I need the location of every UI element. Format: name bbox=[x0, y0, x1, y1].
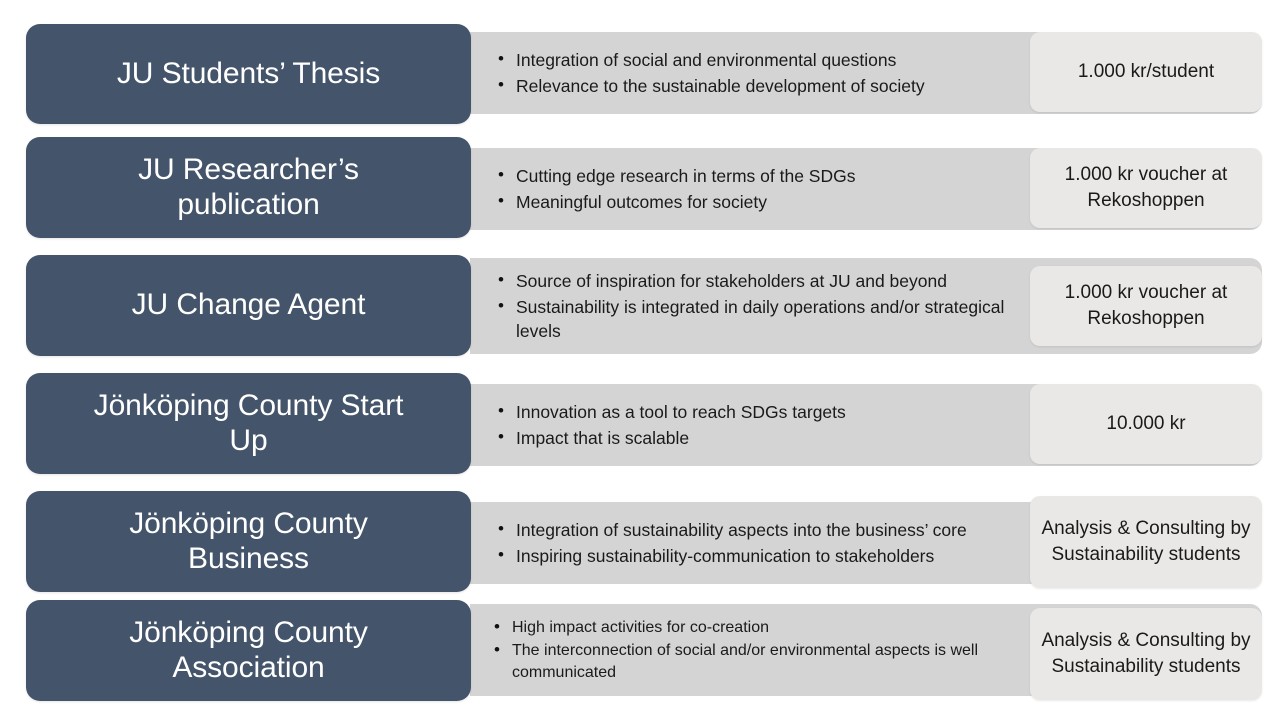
award-row: Source of inspiration for stakeholders a… bbox=[0, 246, 1280, 364]
prize-box[interactable]: 1.000 kr voucher at Rekoshoppen bbox=[1030, 266, 1262, 346]
criteria-item: High impact activities for co-creation bbox=[494, 617, 1045, 638]
category-label: JU Change Agent bbox=[118, 288, 380, 323]
prize-box[interactable]: 10.000 kr bbox=[1030, 384, 1262, 464]
category-label-box[interactable]: JU Researcher’s publication bbox=[26, 137, 471, 238]
criteria-list: Cutting edge research in terms of the SD… bbox=[470, 162, 1030, 216]
category-label-box[interactable]: Jönköping County Start Up bbox=[26, 373, 471, 474]
criteria-item: Innovation as a tool to reach SDGs targe… bbox=[498, 400, 1030, 424]
prize-box[interactable]: 1.000 kr voucher at Rekoshoppen bbox=[1030, 148, 1262, 228]
criteria-list: High impact activities for co-creation T… bbox=[470, 615, 1045, 685]
criteria-item: Cutting edge research in terms of the SD… bbox=[498, 164, 1030, 188]
prize-label: 1.000 kr voucher at Rekoshoppen bbox=[1057, 280, 1236, 331]
prize-box[interactable]: 1.000 kr/student bbox=[1030, 32, 1262, 112]
criteria-list: Source of inspiration for stakeholders a… bbox=[470, 267, 1030, 345]
prize-label: Analysis & Consulting by Sustainability … bbox=[1033, 628, 1258, 679]
criteria-item: Impact that is scalable bbox=[498, 426, 1030, 450]
category-label: JU Researcher’s publication bbox=[124, 153, 373, 223]
award-row: Integration of sustainability aspects in… bbox=[0, 482, 1280, 600]
category-label: Jönköping County Association bbox=[115, 616, 382, 686]
category-label: JU Students’ Thesis bbox=[103, 57, 394, 92]
criteria-item: Sustainability is integrated in daily op… bbox=[498, 295, 1030, 343]
criteria-item: Source of inspiration for stakeholders a… bbox=[498, 269, 1030, 293]
criteria-item: Meaningful outcomes for society bbox=[498, 190, 1030, 214]
criteria-item: Inspiring sustainability-communication t… bbox=[498, 544, 1030, 568]
award-row: Integration of social and environmental … bbox=[0, 0, 1280, 128]
criteria-item: Relevance to the sustainable development… bbox=[498, 74, 1030, 98]
criteria-list: Innovation as a tool to reach SDGs targe… bbox=[470, 398, 1030, 452]
prize-label: Analysis & Consulting by Sustainability … bbox=[1033, 516, 1258, 567]
award-categories-diagram: Integration of social and environmental … bbox=[0, 0, 1280, 720]
criteria-item: Integration of sustainability aspects in… bbox=[498, 518, 1030, 542]
prize-label: 1.000 kr voucher at Rekoshoppen bbox=[1057, 162, 1236, 213]
prize-label: 1.000 kr/student bbox=[1070, 59, 1222, 85]
criteria-list: Integration of sustainability aspects in… bbox=[470, 516, 1030, 570]
award-row: Innovation as a tool to reach SDGs targe… bbox=[0, 364, 1280, 482]
criteria-item: The interconnection of social and/or env… bbox=[494, 640, 1045, 683]
criteria-list: Integration of social and environmental … bbox=[470, 46, 1030, 100]
prize-label: 10.000 kr bbox=[1098, 411, 1193, 437]
criteria-item: Integration of social and environmental … bbox=[498, 48, 1030, 72]
category-label: Jönköping County Start Up bbox=[80, 389, 418, 459]
category-label: Jönköping County Business bbox=[115, 507, 382, 577]
category-label-box[interactable]: Jönköping County Association bbox=[26, 600, 471, 701]
category-label-box[interactable]: JU Students’ Thesis bbox=[26, 24, 471, 124]
category-label-box[interactable]: JU Change Agent bbox=[26, 255, 471, 356]
award-row: Cutting edge research in terms of the SD… bbox=[0, 128, 1280, 246]
prize-box[interactable]: Analysis & Consulting by Sustainability … bbox=[1030, 496, 1262, 588]
award-row: High impact activities for co-creation T… bbox=[0, 600, 1280, 720]
prize-box[interactable]: Analysis & Consulting by Sustainability … bbox=[1030, 608, 1262, 700]
category-label-box[interactable]: Jönköping County Business bbox=[26, 491, 471, 592]
